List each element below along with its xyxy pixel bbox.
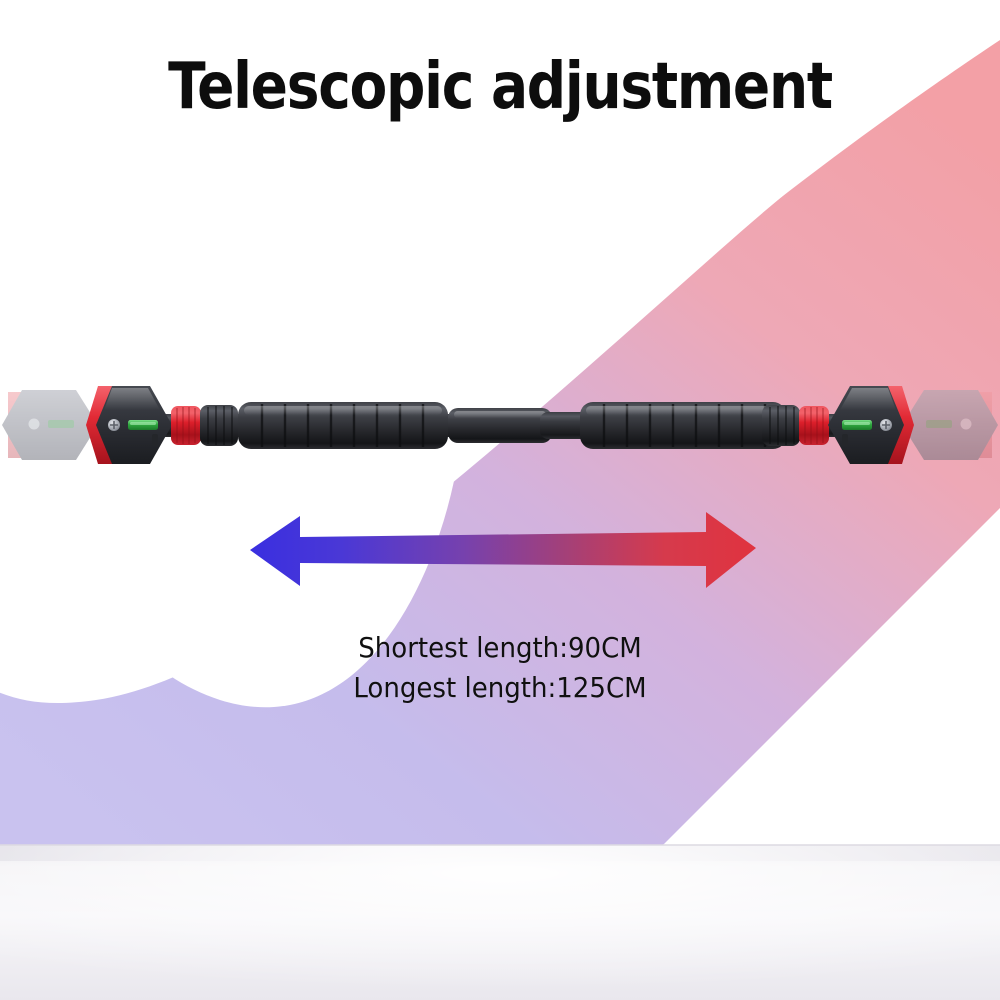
studio-floor-seam (0, 844, 1000, 846)
right-mount-plate (828, 386, 914, 464)
left-lock-collar (200, 405, 238, 446)
studio-floor-glow (0, 845, 1000, 1000)
double-headed-arrow-icon (248, 508, 758, 592)
page-title: Telescopic adjustment (70, 54, 930, 121)
left-ribbed-grip (238, 402, 448, 449)
left-red-collar (171, 406, 201, 445)
arrow-shape (250, 512, 756, 588)
center-smooth-tube (448, 408, 600, 443)
right-ribbed-grip (580, 402, 786, 449)
longest-length-text: Longest length:125CM (35, 668, 965, 708)
product-image-canvas: Telescopic adjustment (0, 0, 1000, 1000)
adjustment-range-arrow (248, 508, 758, 592)
pull-up-bar-graphic (0, 330, 1000, 520)
product-illustration (0, 330, 1000, 520)
right-red-collar (799, 406, 829, 445)
left-mount-plate (86, 386, 172, 464)
length-caption: Shortest length:90CM Longest length:125C… (35, 628, 965, 708)
shortest-length-text: Shortest length:90CM (35, 628, 965, 668)
right-lock-collar (762, 405, 800, 446)
